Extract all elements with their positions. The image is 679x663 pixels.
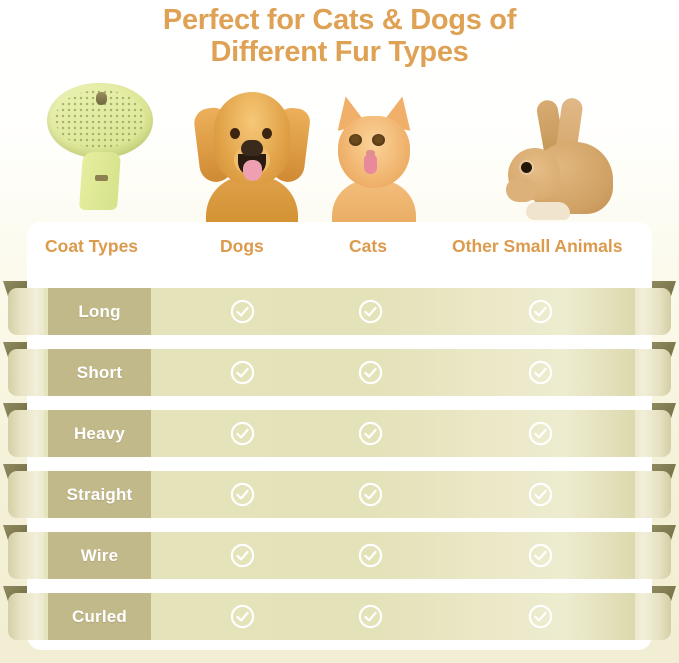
coat-type-label: Short bbox=[77, 363, 122, 383]
coat-type-label-cell: Curled bbox=[48, 593, 151, 640]
check-circle-icon bbox=[230, 421, 255, 446]
check-circle-icon bbox=[358, 299, 383, 324]
check-circle-icon bbox=[358, 360, 383, 385]
comparison-rows: LongShortHeavyStraightWireCurled bbox=[0, 0, 679, 663]
check-circle-icon bbox=[230, 299, 255, 324]
check-circle-icon bbox=[528, 421, 553, 446]
check-circle-icon bbox=[358, 421, 383, 446]
check-circle-icon bbox=[230, 604, 255, 629]
coat-type-label-cell: Wire bbox=[48, 532, 151, 579]
check-circle-icon bbox=[358, 482, 383, 507]
coat-type-label-cell: Long bbox=[48, 288, 151, 335]
table-row: Curled bbox=[0, 593, 679, 640]
check-circle-icon bbox=[358, 543, 383, 568]
ribbon-end-left bbox=[8, 471, 48, 518]
check-circle-icon bbox=[358, 604, 383, 629]
ribbon-end-left bbox=[8, 288, 48, 335]
check-circle-icon bbox=[528, 299, 553, 324]
ribbon-end-left bbox=[8, 532, 48, 579]
check-circle-icon bbox=[230, 482, 255, 507]
coat-type-label: Curled bbox=[72, 607, 127, 627]
ribbon-end-right bbox=[631, 288, 671, 335]
ribbon-end-left bbox=[8, 410, 48, 457]
coat-type-label-cell: Straight bbox=[48, 471, 151, 518]
check-circle-icon bbox=[528, 482, 553, 507]
coat-type-label-cell: Heavy bbox=[48, 410, 151, 457]
check-circle-icon bbox=[230, 543, 255, 568]
check-circle-icon bbox=[528, 604, 553, 629]
coat-type-label: Straight bbox=[67, 485, 133, 505]
table-row: Heavy bbox=[0, 410, 679, 457]
coat-type-label: Long bbox=[78, 302, 120, 322]
ribbon-end-right bbox=[631, 471, 671, 518]
check-circle-icon bbox=[528, 543, 553, 568]
check-circle-icon bbox=[528, 360, 553, 385]
table-row: Wire bbox=[0, 532, 679, 579]
ribbon-end-right bbox=[631, 349, 671, 396]
ribbon-end-right bbox=[631, 410, 671, 457]
ribbon-end-left bbox=[8, 593, 48, 640]
table-row: Straight bbox=[0, 471, 679, 518]
ribbon-end-right bbox=[631, 532, 671, 579]
table-row: Long bbox=[0, 288, 679, 335]
table-row: Short bbox=[0, 349, 679, 396]
check-circle-icon bbox=[230, 360, 255, 385]
ribbon-end-left bbox=[8, 349, 48, 396]
coat-type-label: Wire bbox=[81, 546, 119, 566]
coat-type-label-cell: Short bbox=[48, 349, 151, 396]
coat-type-label: Heavy bbox=[74, 424, 125, 444]
ribbon-end-right bbox=[631, 593, 671, 640]
